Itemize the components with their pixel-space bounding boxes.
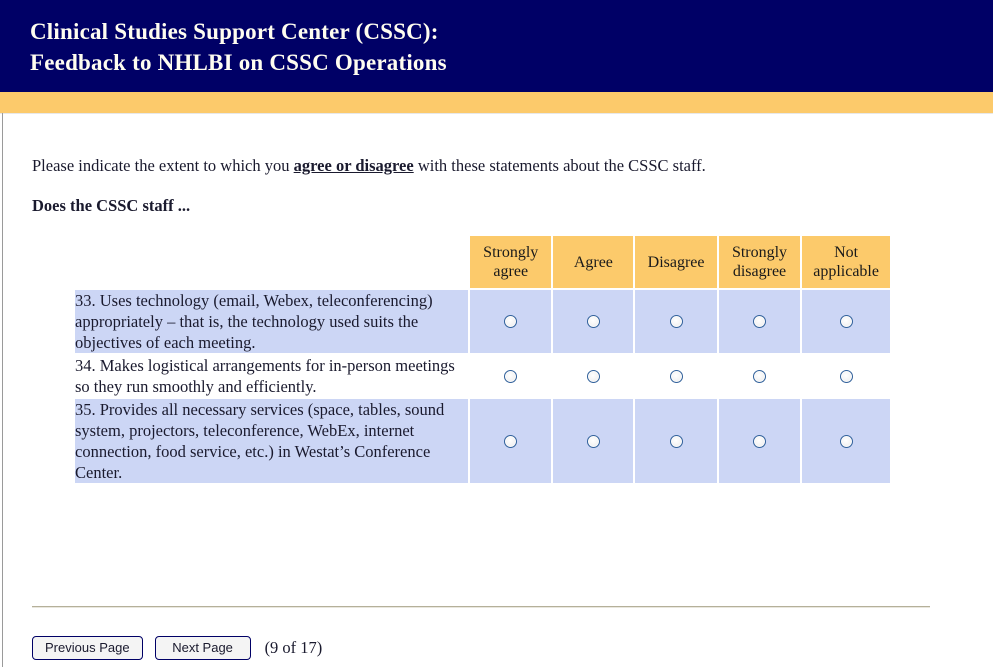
column-header-strongly-disagree: Strongly disagree — [719, 236, 800, 288]
radio-cell-33-agree[interactable] — [553, 290, 633, 353]
radio-icon[interactable] — [753, 435, 766, 448]
radio-icon[interactable] — [587, 435, 600, 448]
radio-icon[interactable] — [504, 435, 517, 448]
radio-cell-35-not-applicable[interactable] — [802, 399, 890, 483]
radio-icon[interactable] — [753, 370, 766, 383]
instructions-emphasis: agree or disagree — [294, 156, 414, 175]
radio-icon[interactable] — [670, 435, 683, 448]
table-row: 33. Uses technology (email, Webex, telec… — [75, 290, 890, 353]
radio-cell-34-not-applicable[interactable] — [802, 355, 890, 397]
next-page-button[interactable]: Next Page — [155, 636, 251, 660]
previous-page-button[interactable]: Previous Page — [32, 636, 143, 660]
radio-icon[interactable] — [840, 370, 853, 383]
radio-cell-35-agree[interactable] — [553, 399, 633, 483]
column-header-strongly-agree: Strongly agree — [470, 236, 551, 288]
radio-icon[interactable] — [587, 315, 600, 328]
radio-icon[interactable] — [504, 370, 517, 383]
question-text-34: 34. Makes logistical arrangements for in… — [75, 355, 468, 397]
radio-icon[interactable] — [587, 370, 600, 383]
radio-cell-33-strongly-disagree[interactable] — [719, 290, 800, 353]
column-header-not-applicable: Not applicable — [802, 236, 890, 288]
radio-cell-35-disagree[interactable] — [635, 399, 717, 483]
radio-cell-33-not-applicable[interactable] — [802, 290, 890, 353]
page-left-rule — [2, 113, 3, 667]
page-indicator: (9 of 17) — [265, 638, 323, 658]
radio-cell-34-disagree[interactable] — [635, 355, 717, 397]
radio-cell-33-strongly-agree[interactable] — [470, 290, 551, 353]
pagination-controls: Previous Page Next Page (9 of 17) — [32, 636, 322, 660]
page-title: Clinical Studies Support Center (CSSC): … — [30, 16, 447, 78]
radio-cell-34-strongly-disagree[interactable] — [719, 355, 800, 397]
radio-cell-35-strongly-disagree[interactable] — [719, 399, 800, 483]
radio-icon[interactable] — [670, 315, 683, 328]
instructions-part-2: with these statements about the CSSC sta… — [414, 156, 706, 175]
radio-icon[interactable] — [504, 315, 517, 328]
footer-divider-highlight — [32, 607, 930, 608]
radio-icon[interactable] — [840, 435, 853, 448]
table-row: 35. Provides all necessary services (spa… — [75, 399, 890, 483]
section-subprompt: Does the CSSC staff ... — [32, 196, 190, 216]
radio-cell-35-strongly-agree[interactable] — [470, 399, 551, 483]
radio-cell-33-disagree[interactable] — [635, 290, 717, 353]
instructions: Please indicate the extent to which you … — [32, 156, 706, 176]
instructions-part-1: Please indicate the extent to which you — [32, 156, 294, 175]
radio-icon[interactable] — [670, 370, 683, 383]
radio-cell-34-agree[interactable] — [553, 355, 633, 397]
radio-icon[interactable] — [753, 315, 766, 328]
matrix-header-row: Strongly agree Agree Disagree Strongly d… — [75, 236, 890, 288]
question-text-33: 33. Uses technology (email, Webex, telec… — [75, 290, 468, 353]
table-row: 34. Makes logistical arrangements for in… — [75, 355, 890, 397]
matrix-header-spacer — [75, 236, 468, 288]
site-banner: Clinical Studies Support Center (CSSC): … — [0, 0, 993, 92]
column-header-agree: Agree — [553, 236, 633, 288]
radio-cell-34-strongly-agree[interactable] — [470, 355, 551, 397]
survey-matrix: Strongly agree Agree Disagree Strongly d… — [73, 234, 892, 485]
question-text-35: 35. Provides all necessary services (spa… — [75, 399, 468, 483]
column-header-disagree: Disagree — [635, 236, 717, 288]
radio-icon[interactable] — [840, 315, 853, 328]
